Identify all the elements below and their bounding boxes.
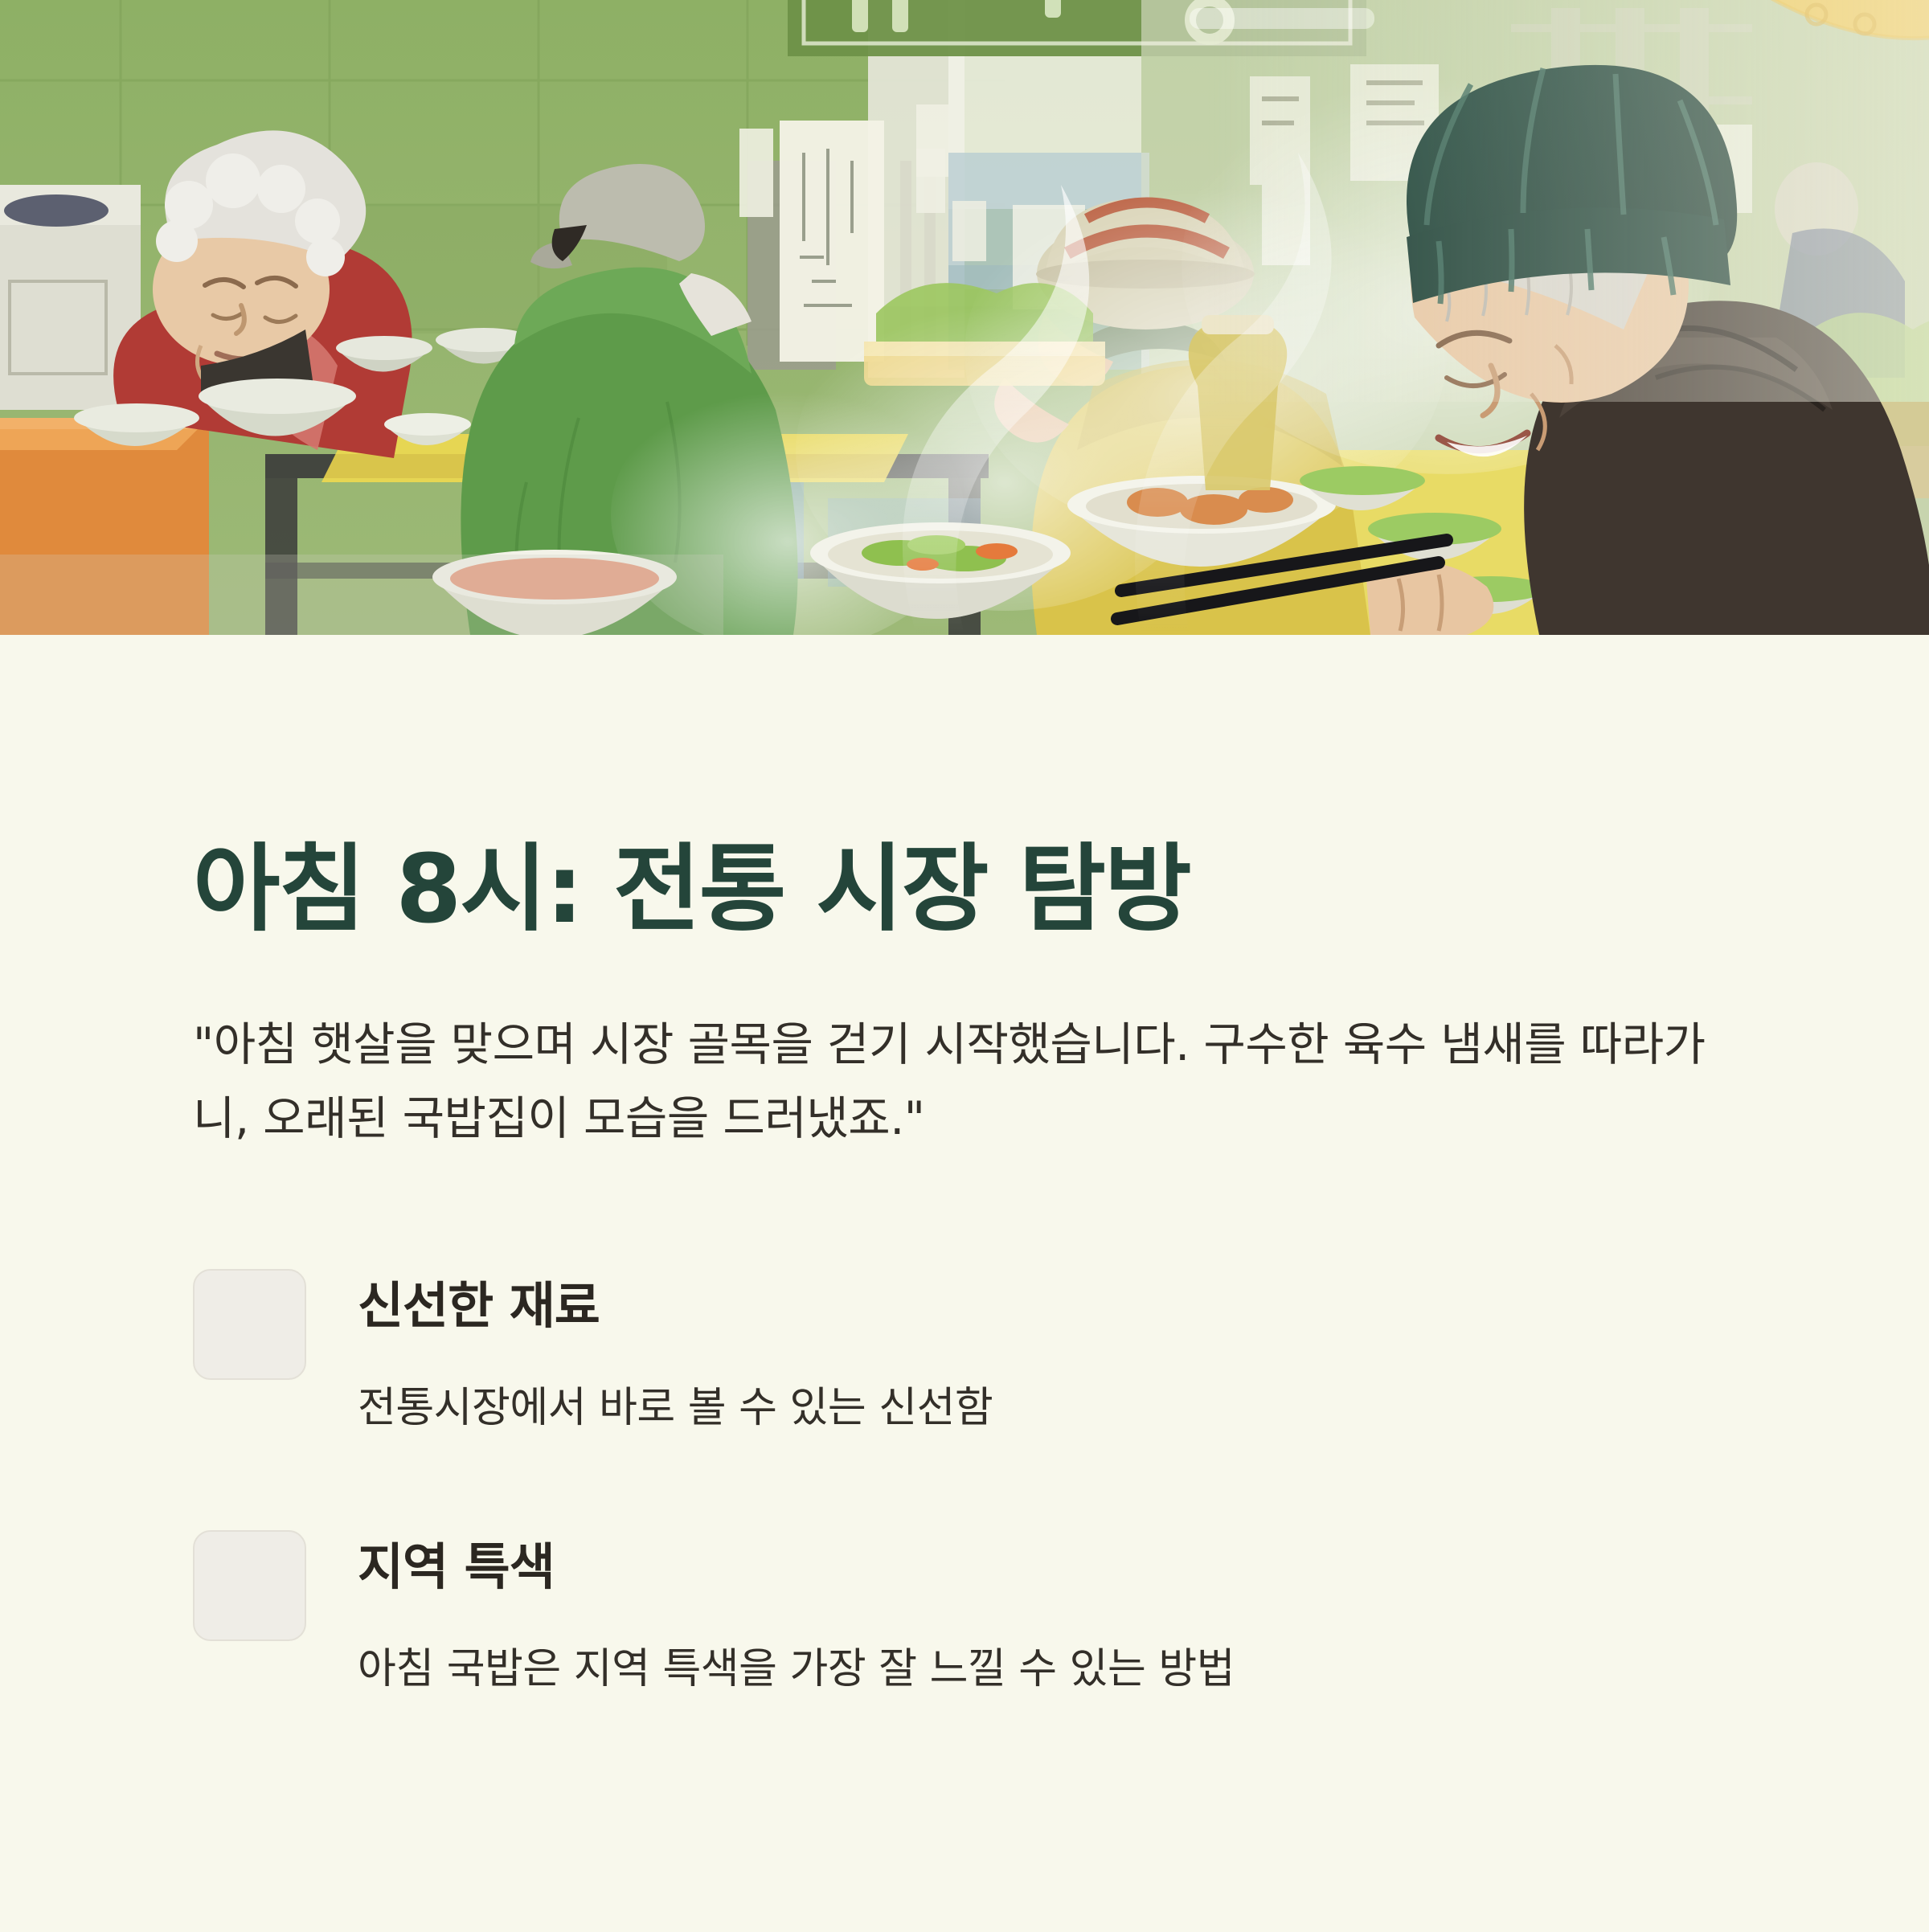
feature-list: 신선한 재료 전통시장에서 바로 볼 수 있는 신선함 지역 특색 아침 국밥은… bbox=[193, 1269, 1736, 1699]
hero-illustration-svg bbox=[0, 0, 1929, 635]
article-page: 아침 8시: 전통 시장 탐방 "아침 햇살을 맞으며 시장 골목을 걷기 시작… bbox=[0, 0, 1929, 1932]
feature-item-fresh-ingredients: 신선한 재료 전통시장에서 바로 볼 수 있는 신선함 bbox=[193, 1269, 1736, 1438]
article-quote: "아침 햇살을 맞으며 시장 골목을 걷기 시작했습니다. 구수한 육수 냄새를… bbox=[193, 1008, 1736, 1156]
feature-icon-placeholder bbox=[193, 1269, 306, 1380]
article-content: 아침 8시: 전통 시장 탐방 "아침 햇살을 맞으며 시장 골목을 걷기 시작… bbox=[0, 635, 1929, 1699]
hero-illustration bbox=[0, 0, 1929, 635]
feature-description: 전통시장에서 바로 볼 수 있는 신선함 bbox=[358, 1379, 993, 1438]
feature-body: 신선한 재료 전통시장에서 바로 볼 수 있는 신선함 bbox=[358, 1269, 993, 1438]
feature-icon-placeholder bbox=[193, 1530, 306, 1641]
feature-item-local-character: 지역 특색 아침 국밥은 지역 특색을 가장 잘 느낄 수 있는 방법 bbox=[193, 1530, 1736, 1699]
feature-title: 지역 특색 bbox=[358, 1538, 1235, 1595]
page-title: 아침 8시: 전통 시장 탐방 bbox=[193, 836, 1736, 942]
feature-body: 지역 특색 아침 국밥은 지역 특색을 가장 잘 느낄 수 있는 방법 bbox=[358, 1530, 1235, 1699]
feature-description: 아침 국밥은 지역 특색을 가장 잘 느낄 수 있는 방법 bbox=[358, 1640, 1235, 1699]
feature-title: 신선한 재료 bbox=[358, 1277, 993, 1334]
